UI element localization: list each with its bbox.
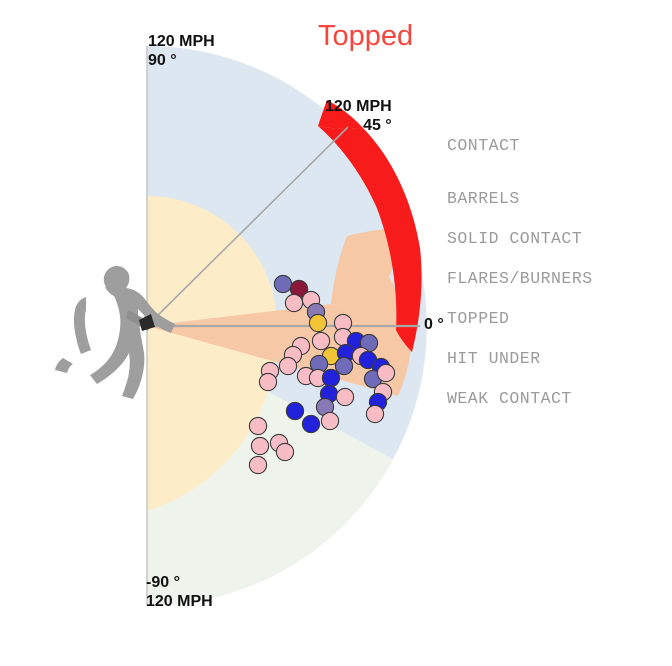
legend-item-solid-contact[interactable]: SOLID CONTACT <box>447 219 593 259</box>
scatter-point[interactable] <box>377 364 394 381</box>
axis-label-zero-degrees: 0 ° <box>424 315 444 334</box>
axis-label-diagonal-speed: 120 MPH <box>325 97 392 116</box>
legend-item-weak-contact[interactable]: WEAK CONTACT <box>447 379 593 419</box>
scatter-point[interactable] <box>322 369 339 386</box>
scatter-point[interactable] <box>285 294 302 311</box>
axis-label-bottom-left: -90 ° 120 MPH <box>146 573 213 611</box>
scatter-point[interactable] <box>274 275 291 292</box>
scatter-point[interactable] <box>286 402 303 419</box>
scatter-point[interactable] <box>249 417 266 434</box>
legend-item-barrels[interactable]: BARRELS <box>447 179 593 219</box>
legend-item-hit-under[interactable]: HIT UNDER <box>447 339 593 379</box>
scatter-point[interactable] <box>312 332 329 349</box>
scatter-point[interactable] <box>249 456 266 473</box>
legend: CONTACT BARRELS SOLID CONTACT FLARES/BUR… <box>447 129 593 419</box>
page-title: Topped <box>318 20 413 53</box>
axis-label-bottom-left-speed: 120 MPH <box>146 592 213 611</box>
scatter-point[interactable] <box>276 443 293 460</box>
scatter-point[interactable] <box>366 405 383 422</box>
batted-ball-polar-chart: Topped 120 MPH 90 ° 120 MPH 45 ° -90 ° 1… <box>0 0 672 666</box>
scatter-point[interactable] <box>251 437 268 454</box>
axis-label-top-left-speed: 120 MPH <box>148 32 215 51</box>
legend-heading: CONTACT <box>447 129 593 179</box>
axis-label-bottom-left-angle: -90 ° <box>146 573 213 592</box>
scatter-point[interactable] <box>302 415 319 432</box>
scatter-point[interactable] <box>309 314 326 331</box>
axis-label-diagonal-angle: 45 ° <box>325 116 392 135</box>
scatter-point[interactable] <box>336 388 353 405</box>
legend-item-topped[interactable]: TOPPED <box>447 299 593 339</box>
legend-item-flares-burners[interactable]: FLARES/BURNERS <box>447 259 593 299</box>
scatter-point[interactable] <box>279 357 296 374</box>
axis-label-top-left: 120 MPH 90 ° <box>148 32 215 70</box>
scatter-point[interactable] <box>335 357 352 374</box>
scatter-point[interactable] <box>321 412 338 429</box>
scatter-point[interactable] <box>259 373 276 390</box>
axis-label-diagonal: 120 MPH 45 ° <box>325 97 392 135</box>
axis-label-top-left-angle: 90 ° <box>148 51 215 70</box>
